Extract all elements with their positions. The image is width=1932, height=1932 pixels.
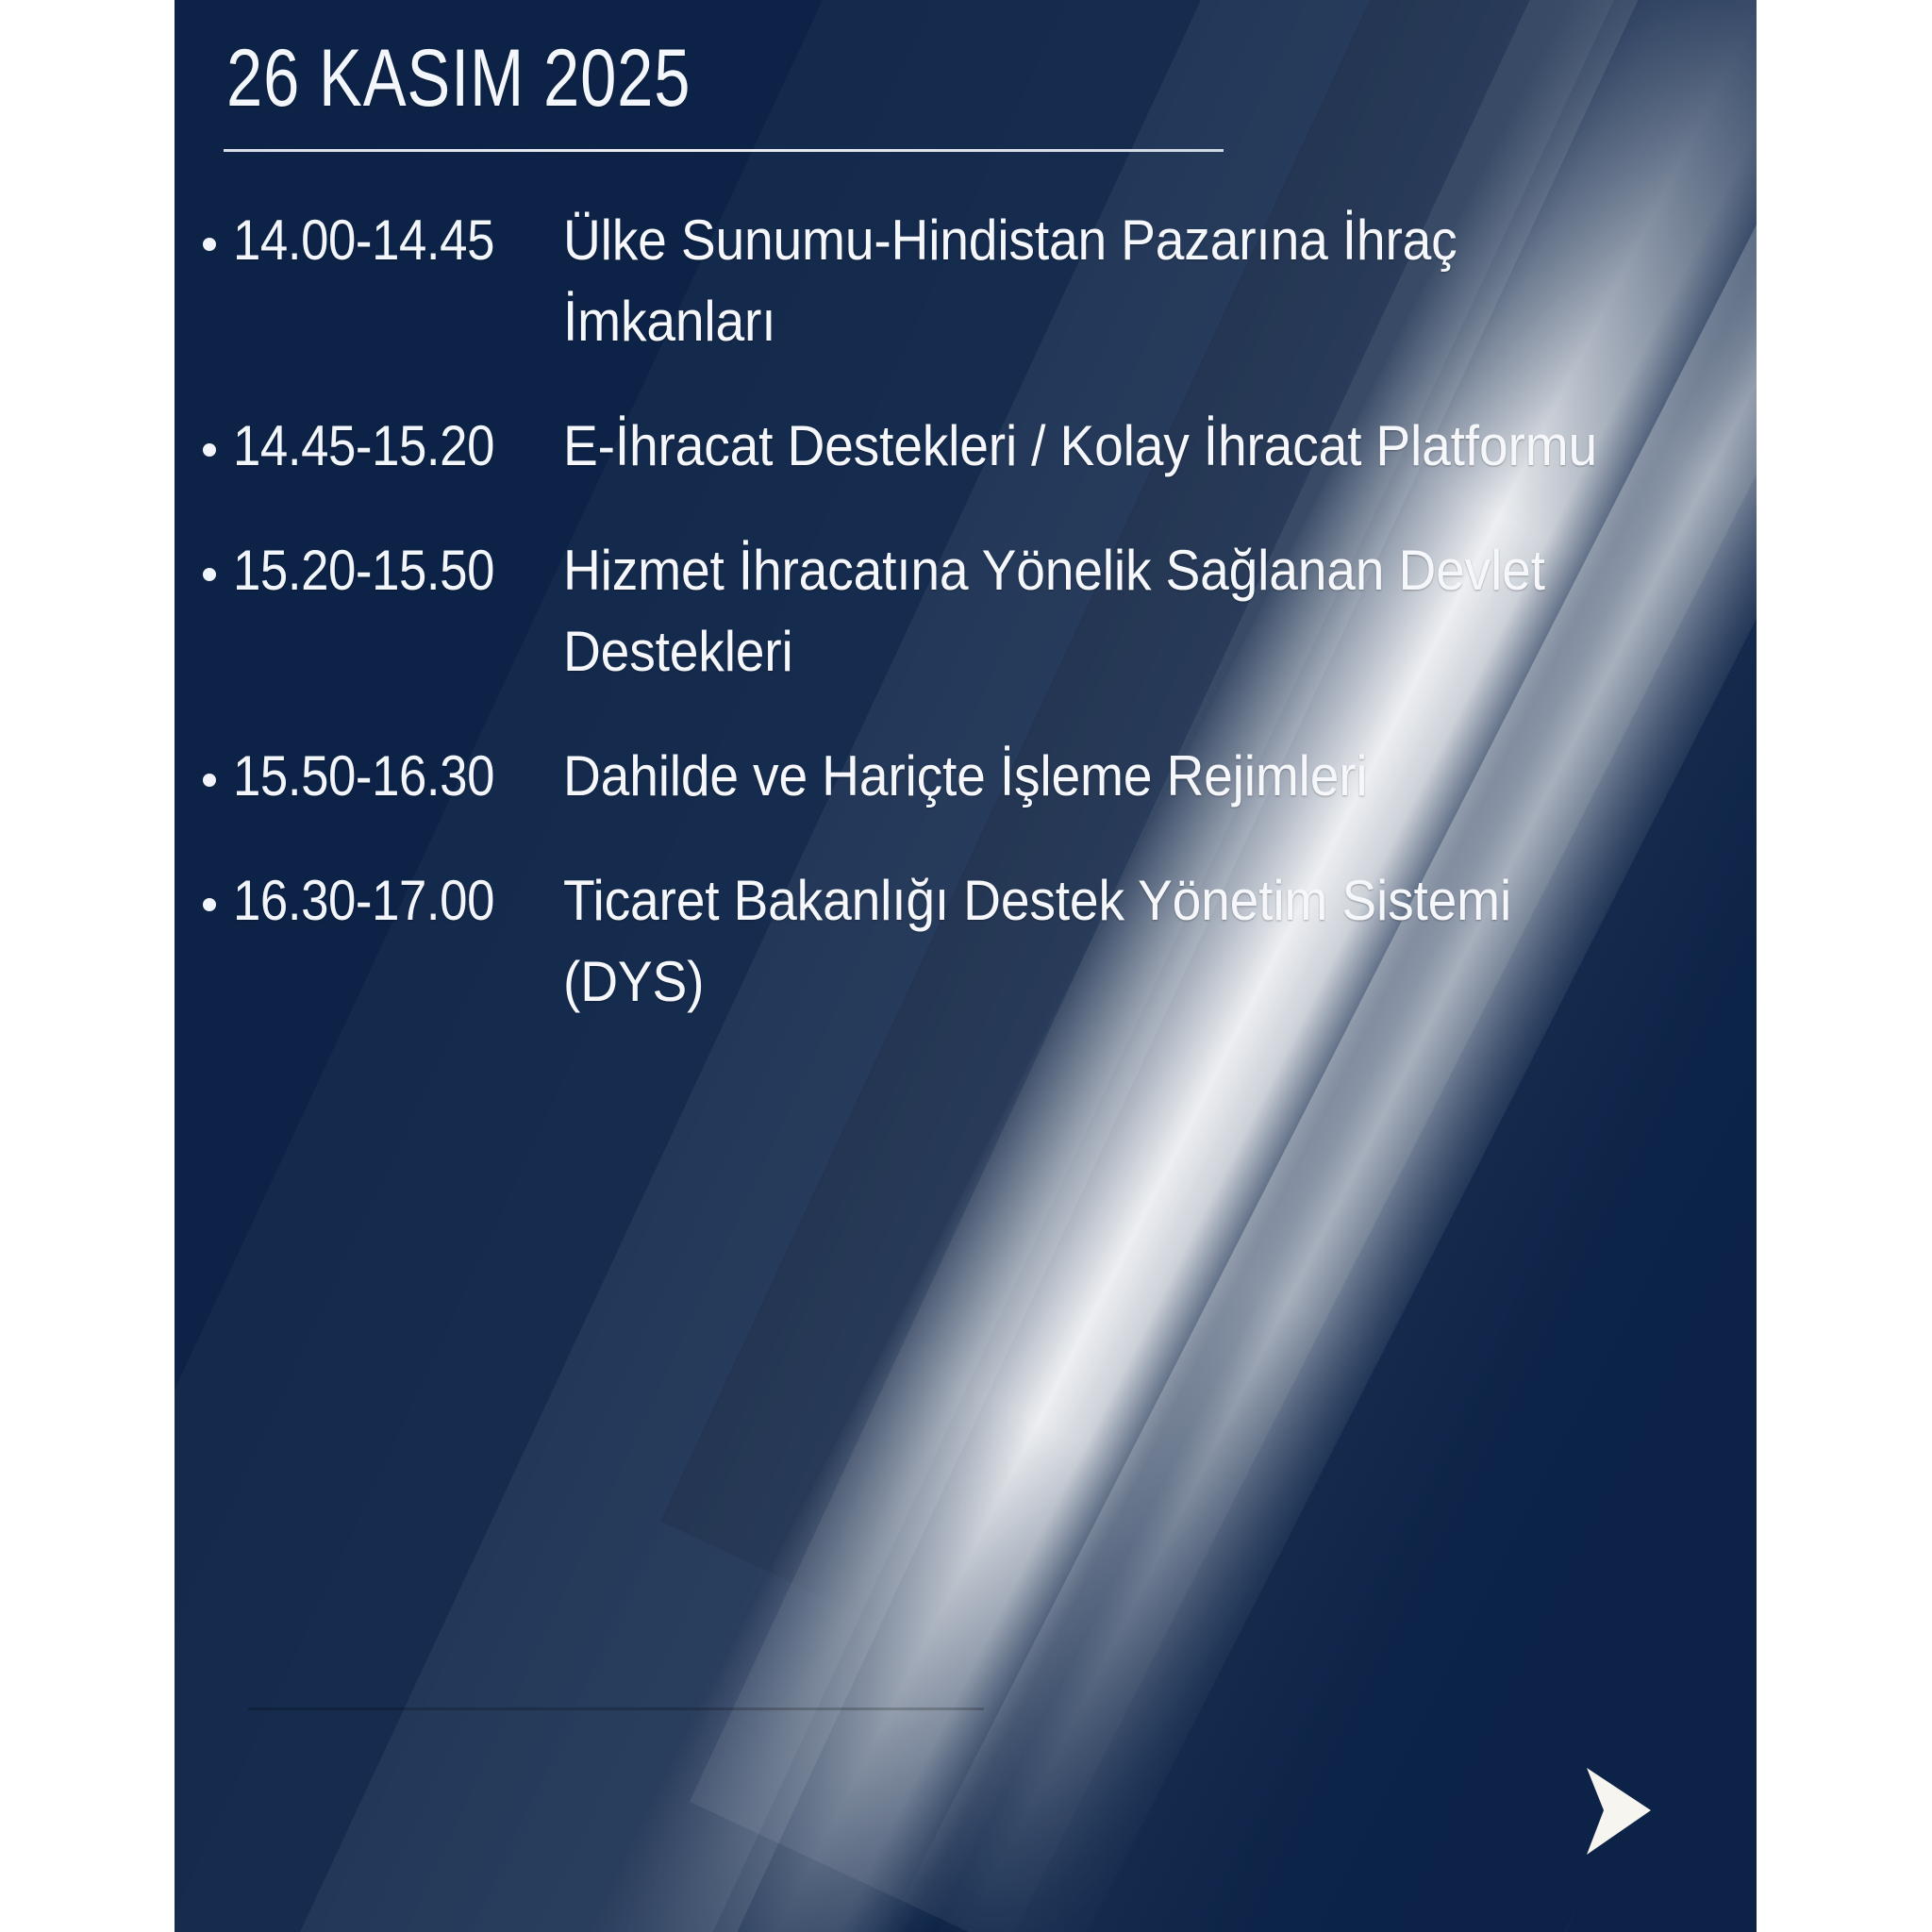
slide: 26 KASIM 2025 14.00-14.45 Ülke Sunumu-Hi…	[175, 0, 1757, 1932]
list-item: 15.20-15.50 Hizmet İhracatına Yönelik Sa…	[175, 530, 1757, 692]
agenda-list: 14.00-14.45 Ülke Sunumu-Hindistan Pazarı…	[175, 200, 1757, 1066]
agenda-item-time: 15.50-16.30	[233, 736, 524, 817]
bullet-icon	[175, 200, 233, 281]
page-title: 26 KASIM 2025	[226, 36, 691, 121]
next-arrow-icon[interactable]	[1583, 1766, 1653, 1857]
agenda-item-topic: Dahilde ve Hariçte İşleme Rejimleri	[563, 736, 1661, 817]
title-underline-rule	[224, 149, 1224, 152]
agenda-item-time: 14.00-14.45	[233, 200, 524, 281]
footer-separator-rule	[248, 1707, 984, 1710]
bullet-icon	[175, 530, 233, 611]
agenda-item-topic: E-İhracat Destekleri / Kolay İhracat Pla…	[563, 406, 1661, 487]
agenda-item-topic: Ticaret Bakanlığı Destek Yönetim Sistemi…	[563, 860, 1661, 1023]
list-item: 16.30-17.00 Ticaret Bakanlığı Destek Yön…	[175, 860, 1757, 1023]
agenda-item-topic: Hizmet İhracatına Yönelik Sağlanan Devle…	[563, 530, 1661, 692]
agenda-item-topic: Ülke Sunumu-Hindistan Pazarına İhraç İmk…	[563, 200, 1661, 362]
bullet-icon	[175, 860, 233, 941]
bullet-icon	[175, 406, 233, 487]
list-item: 14.00-14.45 Ülke Sunumu-Hindistan Pazarı…	[175, 200, 1757, 362]
agenda-item-time: 16.30-17.00	[233, 860, 524, 941]
list-item: 15.50-16.30 Dahilde ve Hariçte İşleme Re…	[175, 736, 1757, 817]
agenda-item-time: 14.45-15.20	[233, 406, 524, 487]
page-canvas: 26 KASIM 2025 14.00-14.45 Ülke Sunumu-Hi…	[0, 0, 1932, 1932]
list-item: 14.45-15.20 E-İhracat Destekleri / Kolay…	[175, 406, 1757, 487]
bullet-icon	[175, 736, 233, 817]
agenda-item-time: 15.20-15.50	[233, 530, 524, 611]
